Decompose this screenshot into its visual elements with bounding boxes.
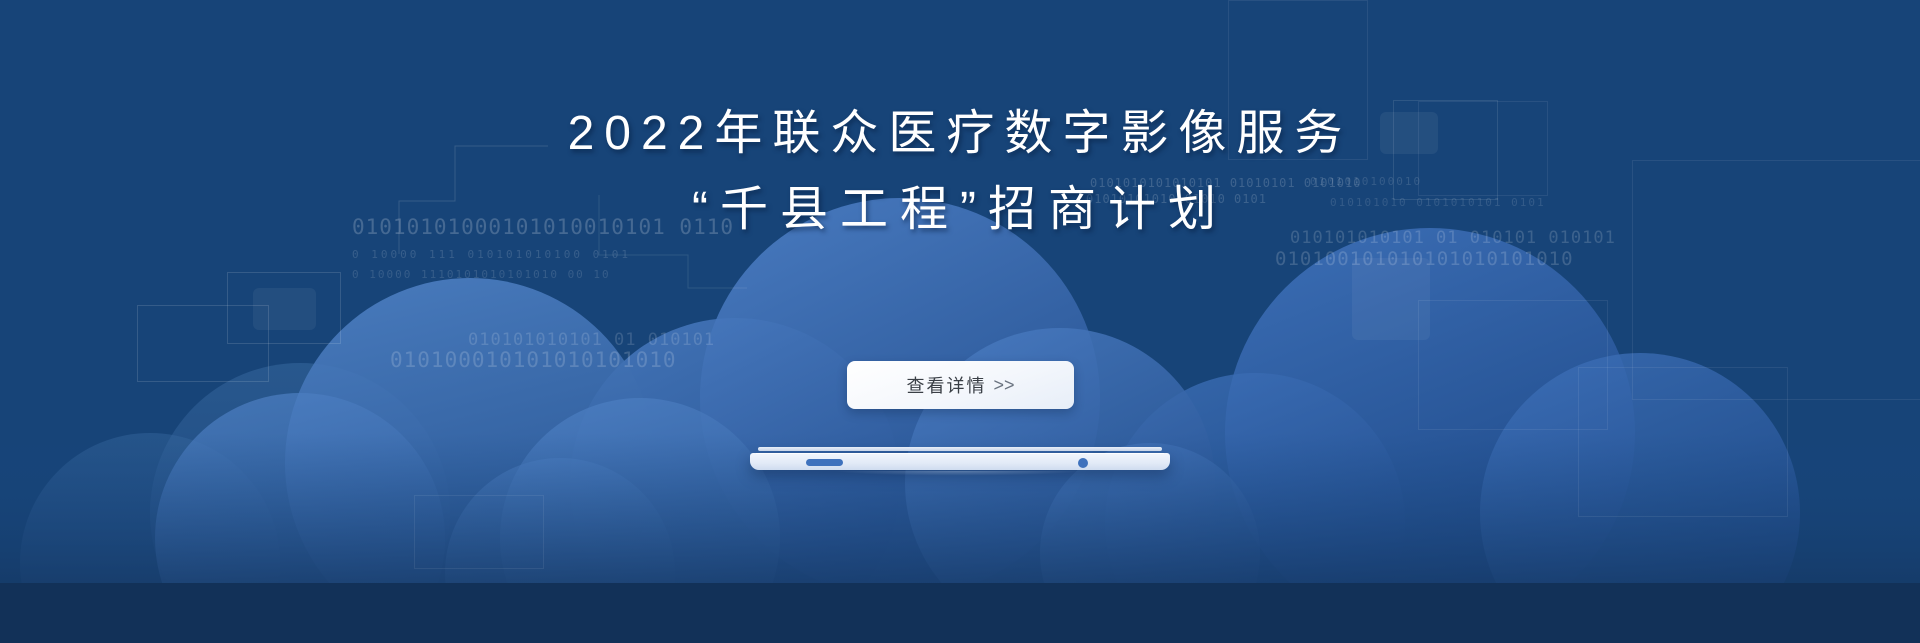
- banner-headline: 2022年联众医疗数字影像服务 “千县工程”招商计划: [0, 96, 1920, 248]
- view-details-button[interactable]: 查看详情 >>: [847, 361, 1074, 409]
- headline-line-1: 2022年联众医疗数字影像服务: [0, 96, 1920, 172]
- decor-rect-left-filled: [253, 288, 316, 330]
- view-details-label: 查看详情: [906, 372, 986, 398]
- laptop-touchbar-indicator: [806, 459, 843, 466]
- laptop-lid-edge: [758, 447, 1162, 451]
- decor-rect-bottom-left: [414, 495, 544, 569]
- laptop-reflection: [794, 471, 1124, 481]
- decor-rect-far-right-b: [1578, 367, 1788, 517]
- headline-line-2: “千县工程”招商计划: [0, 172, 1920, 248]
- binary-text-2: 0 10000 111 010101010100 0101: [352, 248, 631, 261]
- binary-text-5: 010100010101010101010: [390, 348, 677, 372]
- binary-text-9: 010100101010101010101010: [1275, 248, 1574, 270]
- promo-banner: 01010101000101010010101 0110 0 10000 111…: [0, 0, 1920, 643]
- binary-text-4: 010101010101 01 010101: [468, 330, 715, 350]
- double-chevron-right-icon: >>: [993, 375, 1014, 396]
- binary-text-3: 0 10000 1110101010101010 00 10: [352, 268, 611, 281]
- laptop-power-dot-icon: [1078, 458, 1088, 468]
- laptop-base-illustration: [750, 447, 1170, 479]
